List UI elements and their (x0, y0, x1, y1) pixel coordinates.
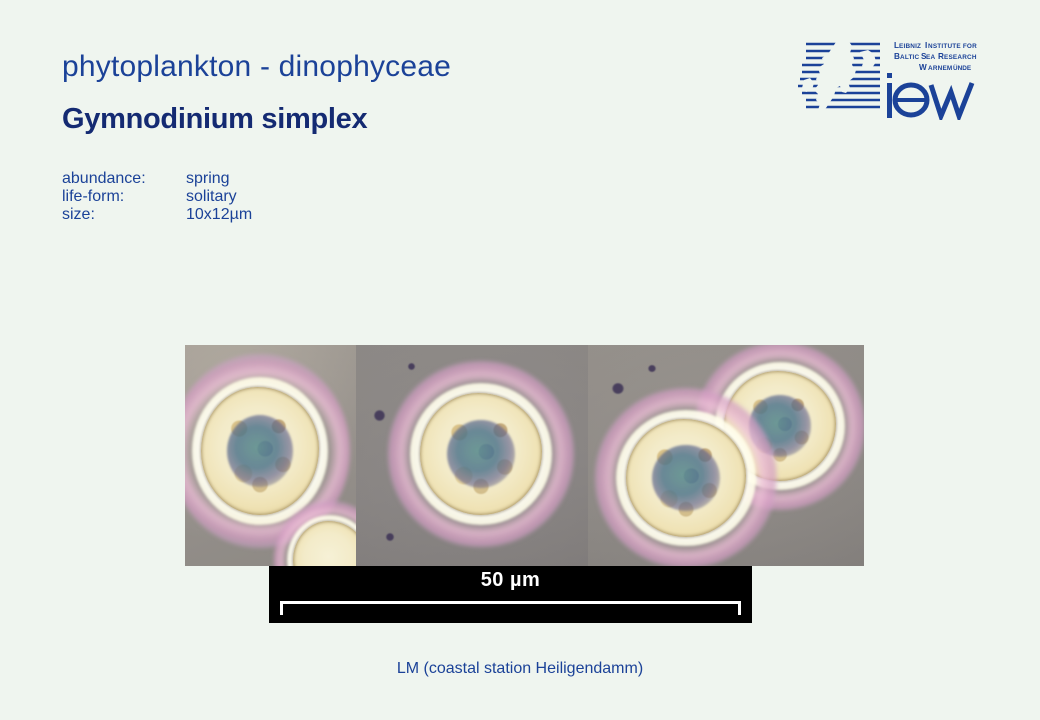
panel-single-cell-center (356, 345, 588, 566)
scale-bar-caliper-icon (280, 601, 741, 615)
metadata-block: abundance: spring life-form: solitary si… (62, 170, 252, 224)
svg-text:EA: EA (926, 54, 935, 61)
cell-nucleus (227, 415, 293, 487)
page-title: phytoplankton - dinophyceae (62, 50, 451, 84)
metadata-value-life-form: solitary (186, 188, 237, 206)
metadata-row-size: size: 10x12µm (62, 206, 252, 224)
logo-wordmark-iow (887, 73, 972, 118)
svg-text:NSTITUTE FOR: NSTITUTE FOR (928, 43, 977, 50)
debris-speck (374, 410, 385, 421)
metadata-row-life-form: life-form: solitary (62, 188, 252, 206)
svg-text:ESEARCH: ESEARCH (944, 54, 977, 61)
svg-text:ARNEM: ARNEM (928, 65, 952, 72)
panel-single-cell-left (185, 345, 356, 566)
cell-body-partial (293, 521, 356, 566)
cell-nucleus (447, 420, 515, 488)
svg-text:W: W (919, 63, 927, 72)
cell-body (420, 393, 542, 515)
scale-bar: 50 µm (269, 566, 752, 623)
species-name: Gymnodinium simplex (62, 103, 367, 136)
metadata-label-size: size: (62, 206, 186, 224)
iow-logo: L EIBNIZ I NSTITUTE FOR B ALTIC S EA R E… (798, 36, 978, 120)
debris-speck (648, 365, 656, 372)
micrograph-strip (185, 345, 864, 566)
logo-institute-text: L EIBNIZ I NSTITUTE FOR B ALTIC S EA R E… (894, 41, 977, 72)
metadata-row-abundance: abundance: spring (62, 170, 252, 188)
cell-nucleus (652, 445, 719, 511)
debris-speck (612, 383, 624, 394)
cell-body (201, 387, 319, 515)
logo-baltic-map-icon (798, 38, 880, 112)
metadata-value-size: 10x12µm (186, 206, 252, 224)
metadata-label-abundance: abundance: (62, 170, 186, 188)
panel-dividing-cell-pair (588, 345, 864, 566)
svg-text:ÜNDE: ÜNDE (953, 63, 972, 72)
metadata-value-abundance: spring (186, 170, 230, 188)
svg-text:ALTIC: ALTIC (900, 54, 920, 61)
metadata-label-life-form: life-form: (62, 188, 186, 206)
svg-text:I: I (925, 41, 927, 50)
debris-speck (408, 363, 415, 370)
cell-body-lower-left (626, 419, 746, 537)
figure-caption: LM (coastal station Heiligendamm) (0, 660, 1040, 678)
debris-speck (386, 533, 394, 541)
scale-bar-label: 50 µm (269, 569, 752, 592)
svg-text:EIBNIZ: EIBNIZ (899, 43, 921, 50)
